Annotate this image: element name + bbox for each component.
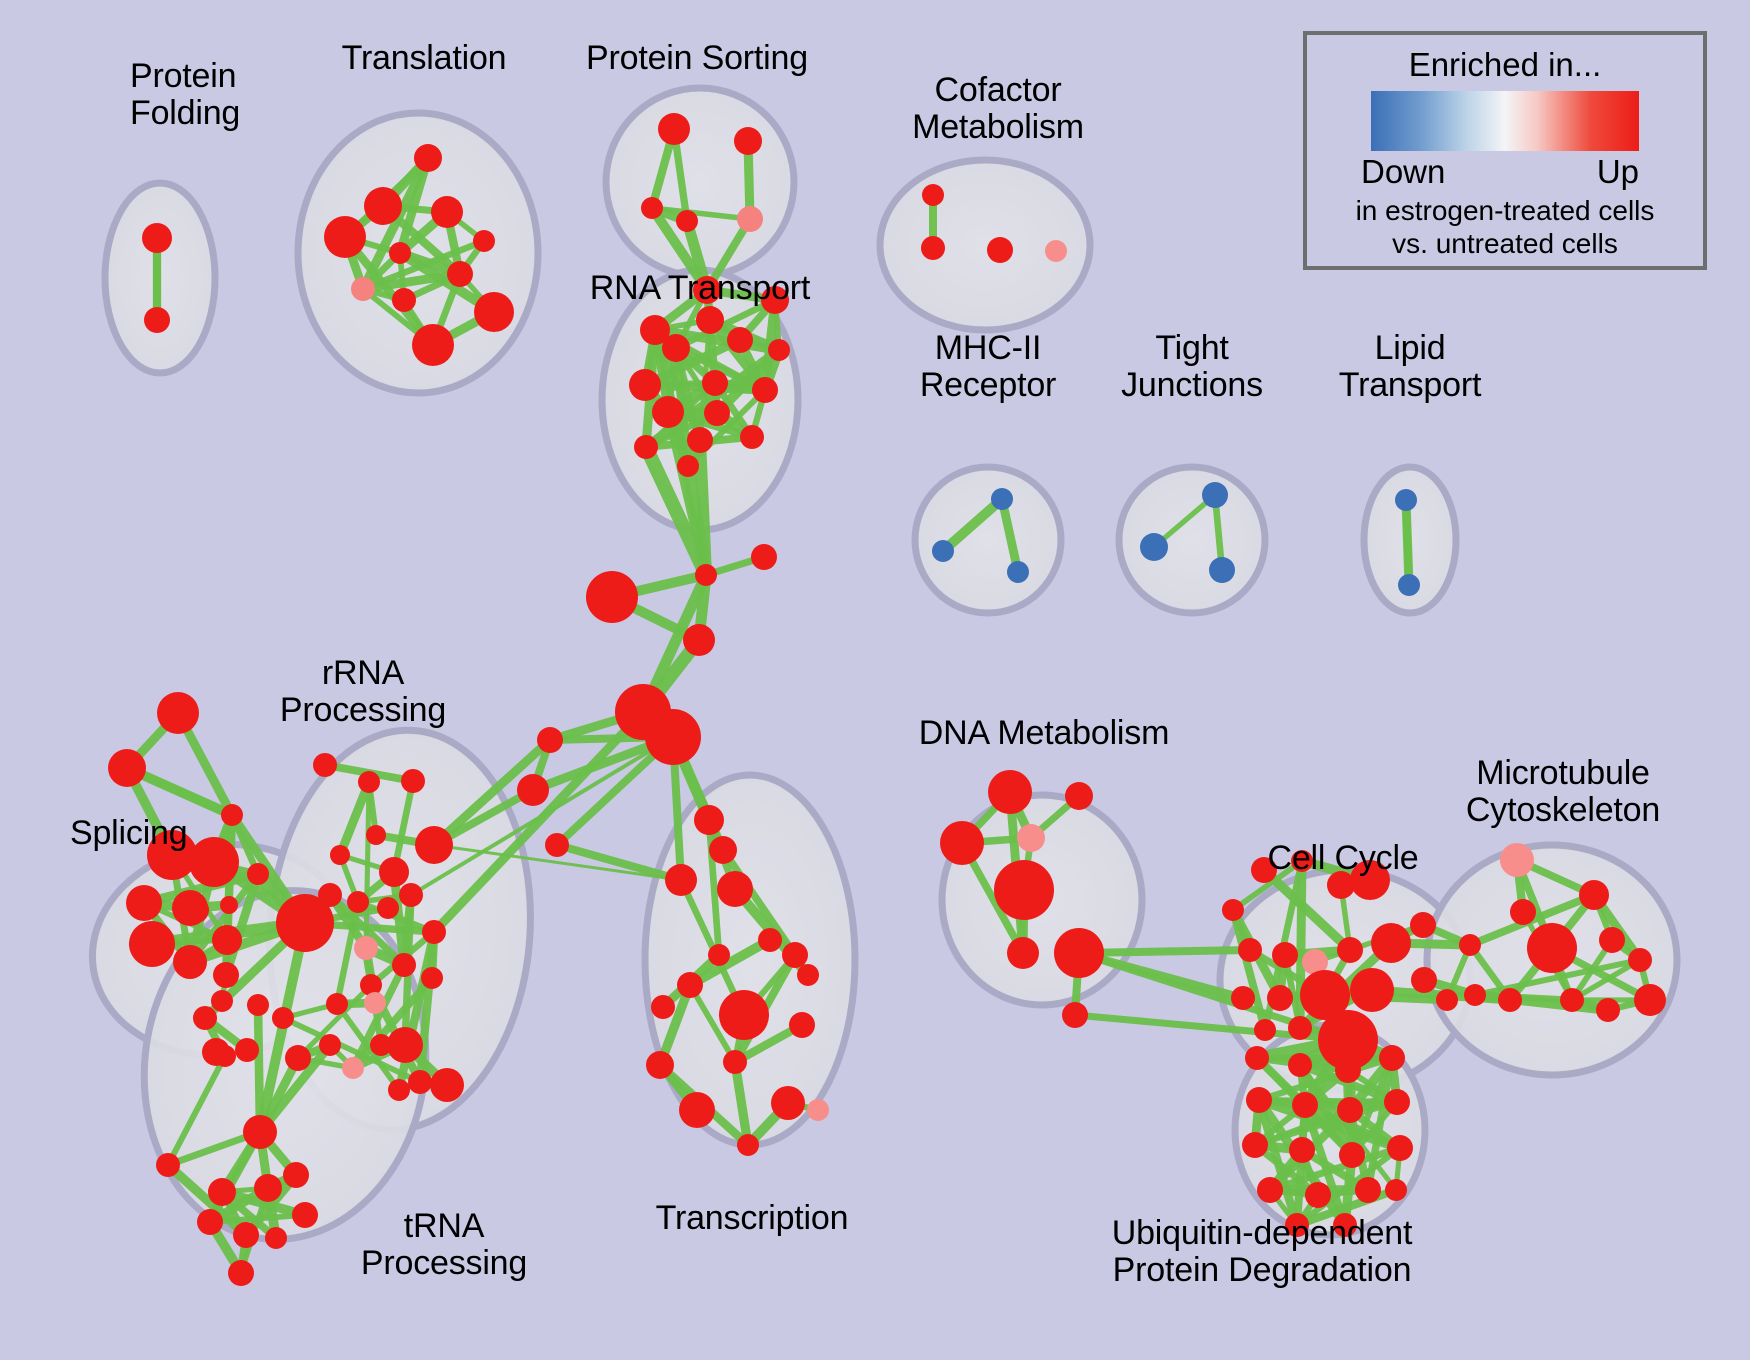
cluster-label-lipid-transport: Lipid Transport xyxy=(1339,330,1481,403)
network-node[interactable] xyxy=(696,306,724,334)
network-node[interactable] xyxy=(727,327,753,353)
network-node[interactable] xyxy=(1045,240,1067,262)
network-node[interactable] xyxy=(1350,968,1394,1012)
network-node[interactable] xyxy=(662,334,690,362)
network-node[interactable] xyxy=(364,187,402,225)
network-node[interactable] xyxy=(751,544,777,570)
network-node[interactable] xyxy=(408,1070,432,1094)
cluster-label-translation: Translation xyxy=(342,40,507,77)
network-node[interactable] xyxy=(247,994,269,1016)
network-node[interactable] xyxy=(1395,489,1417,511)
network-node[interactable] xyxy=(807,1099,829,1121)
network-node[interactable] xyxy=(1379,1045,1405,1071)
network-node[interactable] xyxy=(758,928,782,952)
network-node[interactable] xyxy=(1436,989,1458,1011)
network-node[interactable] xyxy=(1305,1182,1331,1208)
network-node[interactable] xyxy=(366,825,386,845)
network-node[interactable] xyxy=(1527,923,1577,973)
cluster-label-microtubule-cytoskeleton: Microtubule Cytoskeleton xyxy=(1466,755,1660,828)
network-node[interactable] xyxy=(412,324,454,366)
network-node[interactable] xyxy=(1385,1179,1407,1201)
network-node[interactable] xyxy=(144,307,170,333)
network-node[interactable] xyxy=(430,1068,464,1102)
network-node[interactable] xyxy=(1411,967,1437,993)
network-node[interactable] xyxy=(1498,988,1522,1012)
network-node[interactable] xyxy=(415,826,453,864)
network-node[interactable] xyxy=(447,261,473,287)
network-node[interactable] xyxy=(740,425,764,449)
network-node[interactable] xyxy=(221,804,243,826)
legend-title: Enriched in... xyxy=(1307,46,1703,84)
cluster-label-splicing: Splicing xyxy=(70,815,187,852)
network-node[interactable] xyxy=(652,396,684,428)
network-node[interactable] xyxy=(364,992,386,1014)
network-node[interactable] xyxy=(641,197,663,219)
network-node[interactable] xyxy=(629,369,661,401)
network-node[interactable] xyxy=(677,972,703,998)
network-node[interactable] xyxy=(1292,1092,1318,1118)
network-node[interactable] xyxy=(392,953,416,977)
network-node[interactable] xyxy=(326,993,348,1015)
network-node[interactable] xyxy=(586,571,638,623)
network-figure: Protein FoldingTranslationProtein Sortin… xyxy=(0,0,1750,1360)
network-node[interactable] xyxy=(254,1174,282,1202)
network-node[interactable] xyxy=(342,1057,364,1079)
cluster-label-ubiquitin-protein-degradation: Ubiquitin-dependent Protein Degradation xyxy=(1112,1215,1413,1288)
network-node[interactable] xyxy=(324,216,366,258)
network-node[interactable] xyxy=(646,1051,674,1079)
network-node[interactable] xyxy=(737,206,763,232)
network-node[interactable] xyxy=(276,894,334,952)
network-node[interactable] xyxy=(1288,1053,1312,1077)
network-node[interactable] xyxy=(1231,986,1255,1010)
network-node[interactable] xyxy=(1062,1002,1088,1028)
network-node[interactable] xyxy=(634,435,658,459)
cluster-label-transcription: Transcription xyxy=(656,1200,849,1237)
network-node[interactable] xyxy=(1464,984,1486,1006)
cluster-label-cell-cycle: Cell Cycle xyxy=(1267,840,1418,877)
network-node[interactable] xyxy=(782,942,808,968)
network-node[interactable] xyxy=(377,897,399,919)
cluster-region-mhc-ii-receptor[interactable] xyxy=(915,467,1061,613)
network-node[interactable] xyxy=(421,967,443,989)
network-node[interactable] xyxy=(645,709,701,765)
network-node[interactable] xyxy=(717,871,753,907)
network-node[interactable] xyxy=(1355,1177,1381,1203)
network-node[interactable] xyxy=(679,1092,715,1128)
network-node[interactable] xyxy=(1209,557,1235,583)
network-node[interactable] xyxy=(265,1227,287,1249)
network-node[interactable] xyxy=(370,1034,392,1056)
network-node[interactable] xyxy=(1398,574,1420,596)
network-node[interactable] xyxy=(771,1086,805,1120)
network-node[interactable] xyxy=(1387,1135,1413,1161)
network-node[interactable] xyxy=(1254,1019,1276,1041)
network-node[interactable] xyxy=(401,769,425,793)
network-node[interactable] xyxy=(358,771,380,793)
cluster-label-tight-junctions: Tight Junctions xyxy=(1121,330,1263,403)
network-node[interactable] xyxy=(157,692,199,734)
network-node[interactable] xyxy=(473,230,495,252)
network-node[interactable] xyxy=(922,184,944,206)
network-node[interactable] xyxy=(193,1006,217,1030)
cluster-label-rrna-processing: rRNA Processing xyxy=(280,655,446,728)
network-node[interactable] xyxy=(431,196,463,228)
network-node[interactable] xyxy=(235,1038,259,1062)
network-node[interactable] xyxy=(214,1045,236,1067)
legend-low-label: Down xyxy=(1361,153,1445,191)
network-node[interactable] xyxy=(379,857,409,887)
network-node[interactable] xyxy=(1596,998,1620,1022)
network-node[interactable] xyxy=(1337,937,1363,963)
legend-caption-line2: vs. untreated cells xyxy=(1307,228,1703,259)
network-node[interactable] xyxy=(213,962,239,988)
network-node[interactable] xyxy=(683,624,715,656)
network-node[interactable] xyxy=(694,805,724,835)
network-node[interactable] xyxy=(474,292,514,332)
network-node[interactable] xyxy=(987,237,1013,263)
network-node[interactable] xyxy=(388,1079,410,1101)
network-node[interactable] xyxy=(1065,782,1093,810)
network-node[interactable] xyxy=(233,1222,259,1248)
network-node[interactable] xyxy=(208,1178,236,1206)
network-node[interactable] xyxy=(734,127,762,155)
network-node[interactable] xyxy=(272,1007,294,1029)
network-node[interactable] xyxy=(1222,899,1244,921)
network-node[interactable] xyxy=(1337,1097,1363,1123)
network-node[interactable] xyxy=(1634,984,1666,1016)
network-node[interactable] xyxy=(665,864,697,896)
network-node[interactable] xyxy=(212,925,242,955)
legend-high-label: Up xyxy=(1597,153,1639,191)
network-node[interactable] xyxy=(142,223,172,253)
legend-endpoints: Down Up xyxy=(1355,153,1655,193)
network-node[interactable] xyxy=(719,990,769,1040)
network-node[interactable] xyxy=(354,936,378,960)
network-node[interactable] xyxy=(1007,561,1029,583)
network-node[interactable] xyxy=(677,455,699,477)
network-node[interactable] xyxy=(1335,1057,1361,1083)
network-node[interactable] xyxy=(545,833,569,857)
network-node[interactable] xyxy=(1579,880,1609,910)
network-node[interactable] xyxy=(285,1045,311,1071)
network-node[interactable] xyxy=(1510,899,1536,925)
network-node[interactable] xyxy=(108,749,146,787)
network-node[interactable] xyxy=(537,727,563,753)
color-gradient-bar xyxy=(1371,91,1639,151)
network-node[interactable] xyxy=(173,945,207,979)
network-node[interactable] xyxy=(220,896,238,914)
network-node[interactable] xyxy=(1202,482,1228,508)
network-node[interactable] xyxy=(991,488,1013,510)
network-node[interactable] xyxy=(797,964,819,986)
network-node[interactable] xyxy=(243,1115,277,1149)
cluster-region-tight-junctions[interactable] xyxy=(1119,467,1265,613)
network-node[interactable] xyxy=(347,891,369,913)
network-node[interactable] xyxy=(1242,1132,1268,1158)
network-node[interactable] xyxy=(676,210,698,232)
network-node[interactable] xyxy=(702,370,728,396)
network-node[interactable] xyxy=(687,427,713,453)
network-node[interactable] xyxy=(1245,1046,1269,1070)
network-node[interactable] xyxy=(247,863,269,885)
network-edge xyxy=(1406,500,1409,585)
cluster-label-rna-transport: RNA Transport xyxy=(590,270,810,307)
network-node[interactable] xyxy=(129,921,175,967)
network-node[interactable] xyxy=(292,1202,318,1228)
network-node[interactable] xyxy=(399,883,423,907)
network-node[interactable] xyxy=(695,564,717,586)
network-node[interactable] xyxy=(651,995,675,1019)
network-node[interactable] xyxy=(768,339,790,361)
network-node[interactable] xyxy=(1459,934,1481,956)
network-node[interactable] xyxy=(708,944,730,966)
network-node[interactable] xyxy=(189,837,239,887)
network-node[interactable] xyxy=(1560,988,1584,1012)
cluster-label-cofactor-metabolism: Cofactor Metabolism xyxy=(912,72,1084,145)
network-node[interactable] xyxy=(1267,985,1293,1011)
legend-caption-line1: in estrogen-treated cells xyxy=(1307,195,1703,226)
network-node[interactable] xyxy=(1007,937,1039,969)
network-node[interactable] xyxy=(1238,938,1262,962)
network-node[interactable] xyxy=(932,540,954,562)
cluster-label-dna-metabolism: DNA Metabolism xyxy=(919,715,1169,752)
network-node[interactable] xyxy=(313,753,337,777)
network-node[interactable] xyxy=(1628,948,1652,972)
network-node[interactable] xyxy=(1371,923,1411,963)
network-node[interactable] xyxy=(228,1260,254,1286)
cluster-label-protein-folding: Protein Folding xyxy=(130,58,240,131)
network-node[interactable] xyxy=(988,770,1032,814)
network-node[interactable] xyxy=(1054,928,1104,978)
network-node[interactable] xyxy=(1599,927,1625,953)
network-node[interactable] xyxy=(414,144,442,172)
network-node[interactable] xyxy=(422,920,446,944)
network-node[interactable] xyxy=(940,821,984,865)
network-edge xyxy=(1079,950,1250,953)
network-node[interactable] xyxy=(387,1027,423,1063)
network-node[interactable] xyxy=(789,1012,815,1038)
cluster-label-mhc-ii-receptor: MHC-II Receptor xyxy=(920,330,1056,403)
network-node[interactable] xyxy=(709,836,737,864)
network-node[interactable] xyxy=(126,885,162,921)
network-node[interactable] xyxy=(172,890,208,926)
network-node[interactable] xyxy=(1289,1137,1315,1163)
network-node[interactable] xyxy=(1384,1089,1410,1115)
network-node[interactable] xyxy=(389,242,411,264)
network-node[interactable] xyxy=(1288,1016,1312,1040)
legend-box: Enriched in... Down Up in estrogen-treat… xyxy=(1303,31,1707,270)
network-node[interactable] xyxy=(1246,1087,1272,1113)
network-node[interactable] xyxy=(1410,912,1436,938)
cluster-label-protein-sorting: Protein Sorting xyxy=(586,40,808,77)
network-node[interactable] xyxy=(1140,533,1168,561)
network-node[interactable] xyxy=(211,990,233,1012)
network-node[interactable] xyxy=(330,845,350,865)
network-node[interactable] xyxy=(752,377,778,403)
network-node[interactable] xyxy=(704,400,730,426)
network-node[interactable] xyxy=(517,774,549,806)
network-node[interactable] xyxy=(1257,1177,1283,1203)
network-node[interactable] xyxy=(994,860,1054,920)
network-node[interactable] xyxy=(197,1209,223,1235)
network-node[interactable] xyxy=(658,113,690,145)
network-node[interactable] xyxy=(156,1153,180,1177)
network-node[interactable] xyxy=(351,277,375,301)
network-node[interactable] xyxy=(1017,824,1045,852)
network-node[interactable] xyxy=(392,288,416,312)
network-node[interactable] xyxy=(737,1134,759,1156)
network-node[interactable] xyxy=(319,1034,341,1056)
network-node[interactable] xyxy=(1339,1142,1365,1168)
network-node[interactable] xyxy=(1272,942,1298,968)
cluster-label-trna-processing: tRNA Processing xyxy=(361,1208,527,1281)
network-node[interactable] xyxy=(1500,843,1534,877)
network-node[interactable] xyxy=(921,236,945,260)
network-node[interactable] xyxy=(723,1050,747,1074)
network-node[interactable] xyxy=(283,1162,309,1188)
